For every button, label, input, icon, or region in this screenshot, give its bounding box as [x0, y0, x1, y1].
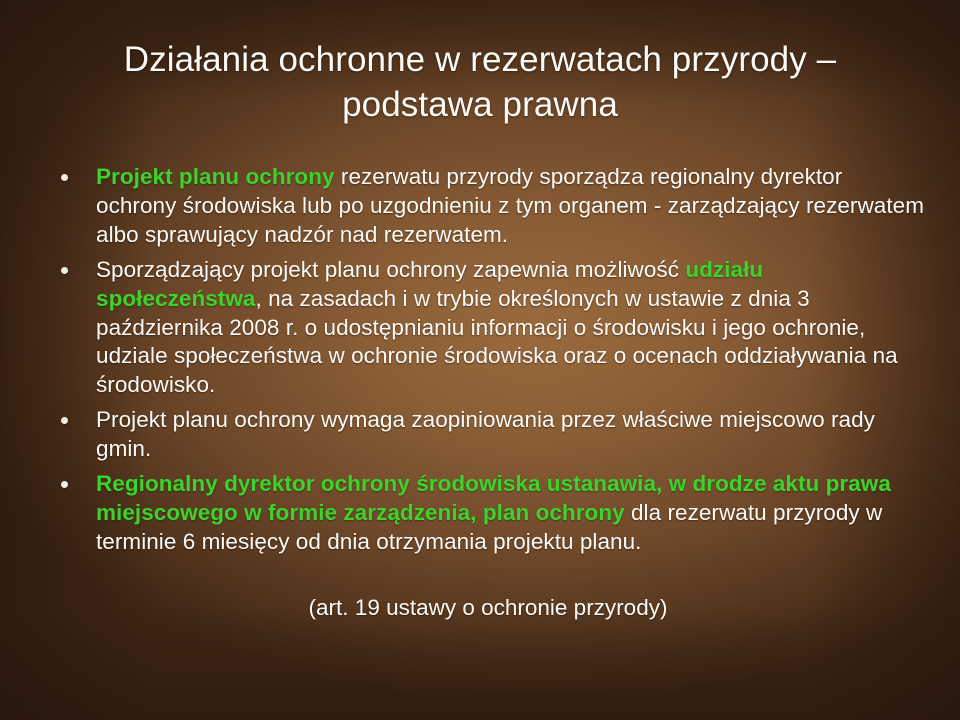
bullet-item-4: Regionalny dyrektor ochrony środowiska u…	[52, 470, 924, 557]
slide-title: Działania ochronne w rezerwatach przyrod…	[60, 38, 900, 128]
bullet-1-highlight: Projekt planu ochrony	[96, 164, 335, 189]
bullet-item-1: Projekt planu ochrony rezerwatu przyrody…	[52, 163, 924, 250]
slide-body: Projekt planu ochrony rezerwatu przyrody…	[52, 163, 924, 563]
slide-content: Działania ochronne w rezerwatach przyrod…	[0, 0, 960, 720]
bullet-2-text-before: Sporządzający projekt planu ochrony zape…	[96, 257, 685, 282]
bullet-item-3: Projekt planu ochrony wymaga zaopiniowan…	[52, 406, 924, 464]
bullet-3-text: Projekt planu ochrony wymaga zaopiniowan…	[96, 407, 875, 461]
presentation-slide: Działania ochronne w rezerwatach przyrod…	[0, 0, 960, 720]
legal-source-note: (art. 19 ustawy o ochronie przyrody)	[52, 594, 924, 623]
bullet-item-2: Sporządzający projekt planu ochrony zape…	[52, 256, 924, 401]
bullet-list: Projekt planu ochrony rezerwatu przyrody…	[52, 163, 924, 557]
